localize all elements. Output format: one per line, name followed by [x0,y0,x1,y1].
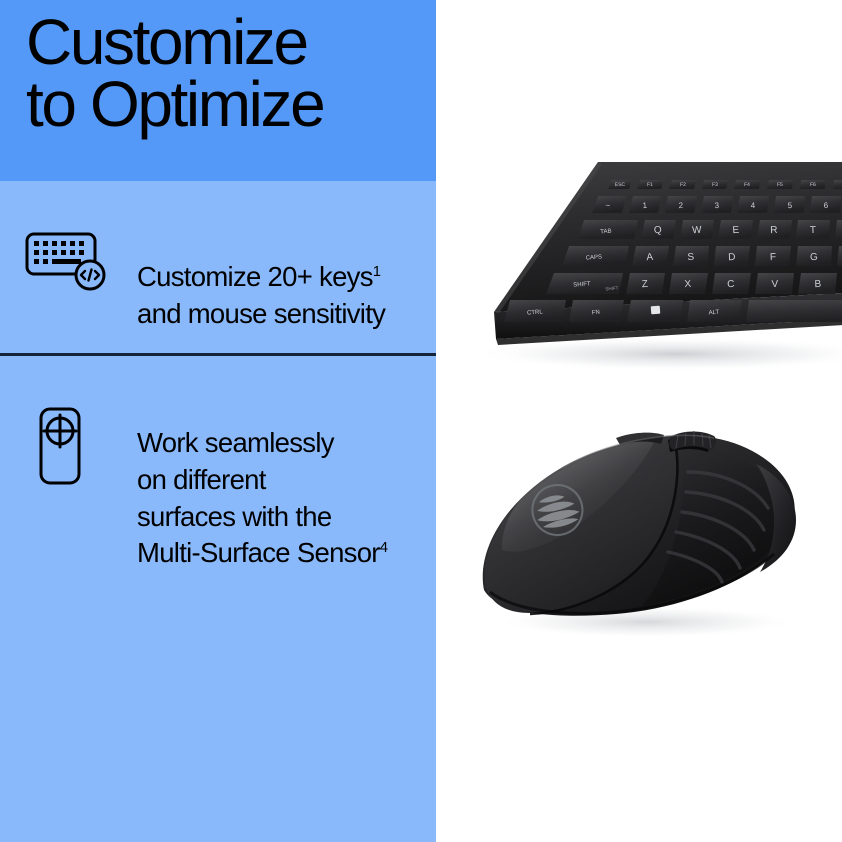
svg-text:T: T [810,225,816,236]
svg-text:D: D [728,252,736,263]
svg-text:SHIFT: SHIFT [573,281,591,288]
svg-text:G: G [810,252,818,263]
svg-text:E: E [732,225,740,236]
svg-text:F5: F5 [777,182,783,188]
svg-text:W: W [692,225,703,237]
svg-text:ESC: ESC [615,182,626,188]
svg-text:X: X [684,279,692,290]
svg-text:C: C [727,279,735,290]
mouse-photo [456,400,826,660]
svg-text:F2: F2 [680,182,686,188]
svg-text:FN: FN [592,310,600,317]
svg-text:F6: F6 [810,182,816,188]
feature-divider [0,353,436,356]
svg-text:SHIFT: SHIFT [605,286,619,292]
page-title: Customize to Optimize [26,11,426,135]
feature-label-multi-surface: Work seamlessly on different surfaces wi… [137,388,437,572]
svg-text:6: 6 [824,201,829,210]
feature-text-rest-0: and mouse sensitivity [137,298,385,329]
keyboard-code-icon [24,230,112,297]
svg-text:TAB: TAB [600,229,612,236]
product-photo-area: ESC F1 F2 F3 F4 F5 F6 [436,0,842,842]
svg-text:Q: Q [654,225,663,237]
svg-text:CAPS: CAPS [586,254,603,261]
svg-text:Z: Z [641,279,648,290]
svg-text:S: S [687,252,695,263]
footnote-marker-4: 4 [380,540,388,556]
svg-text:A: A [646,252,654,263]
feature-label-customize-keys: Customize 20+ keys1 and mouse sensitivit… [137,222,437,333]
feature-text-main-1: Work seamlessly on different surfaces wi… [137,427,380,569]
svg-text:R: R [770,225,778,236]
svg-text:B: B [814,279,821,290]
feature-panel: Customize to Optimize [0,0,436,842]
footnote-marker-1: 1 [373,264,381,280]
feature-text-main-0: Customize 20+ keys [137,261,373,292]
svg-text:F4: F4 [744,182,750,188]
svg-text:F1: F1 [647,182,653,188]
multi-surface-sensor-icon [24,406,94,491]
marketing-card: Customize to Optimize [0,0,842,842]
keyboard-photo: ESC F1 F2 F3 F4 F5 F6 [436,140,842,390]
svg-text:F3: F3 [712,182,718,188]
svg-text:F: F [770,252,776,263]
svg-text:V: V [771,279,778,290]
svg-text:ALT: ALT [708,310,719,317]
